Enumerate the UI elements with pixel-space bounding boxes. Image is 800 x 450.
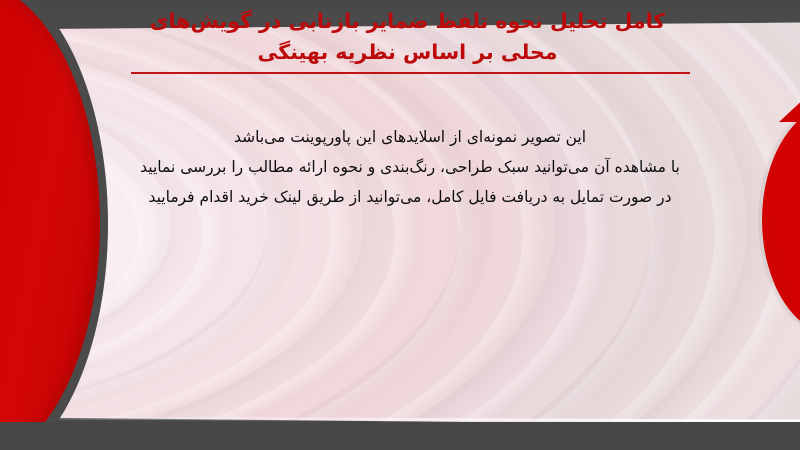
slide-title-line-1: کامل تحلیل نحوه تلفظ ضمایر بازتابی در گو… <box>120 6 695 37</box>
slide-canvas: کامل تحلیل نحوه تلفظ ضمایر بازتابی در گو… <box>0 0 800 450</box>
title-underline-rule <box>131 72 690 74</box>
slide-body-text: این تصویر نمونه‌ای از اسلایدهای این پاور… <box>60 122 760 212</box>
slide-title: کامل تحلیل نحوه تلفظ ضمایر بازتابی در گو… <box>120 6 695 68</box>
slide-title-line-2: محلی بر اساس نظریه بهینگی <box>120 37 695 68</box>
slide-body-line-1: این تصویر نمونه‌ای از اسلایدهای این پاور… <box>60 122 760 152</box>
bottom-dark-band <box>0 422 800 450</box>
slide-body-line-3: در صورت تمایل به دریافت فایل کامل، می‌تو… <box>60 182 760 212</box>
slide-body-line-2: با مشاهده آن می‌توانید سبک طراحی، رنگ‌بن… <box>60 152 760 182</box>
